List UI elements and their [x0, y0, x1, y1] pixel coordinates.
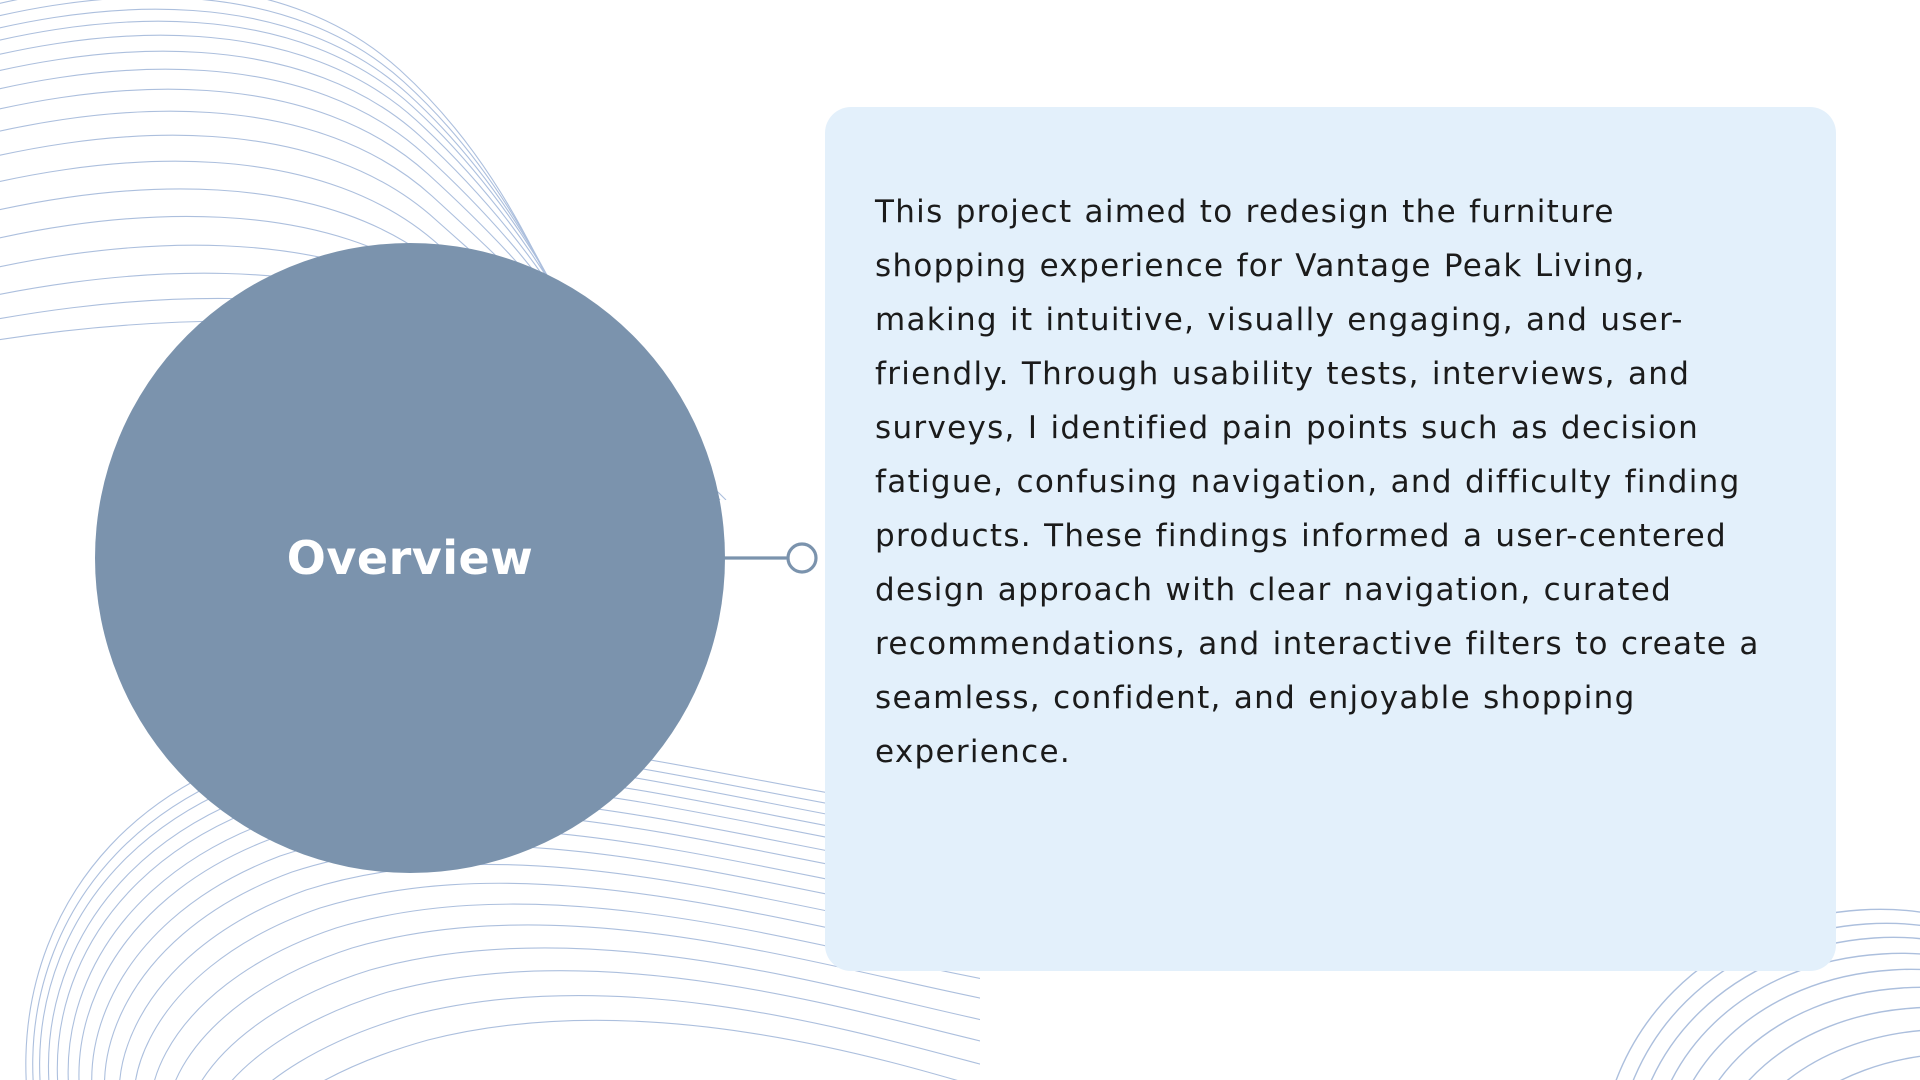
- connector-line-and-node: [718, 538, 828, 578]
- overview-body-text: This project aimed to redesign the furni…: [875, 185, 1776, 779]
- overview-node-label: Overview: [287, 535, 533, 581]
- overview-text-card: This project aimed to redesign the furni…: [825, 107, 1836, 971]
- slide-canvas: Overview This project aimed to redesign …: [0, 0, 1920, 1080]
- overview-node-circle: Overview: [95, 243, 725, 873]
- connector-endpoint-icon: [788, 544, 816, 572]
